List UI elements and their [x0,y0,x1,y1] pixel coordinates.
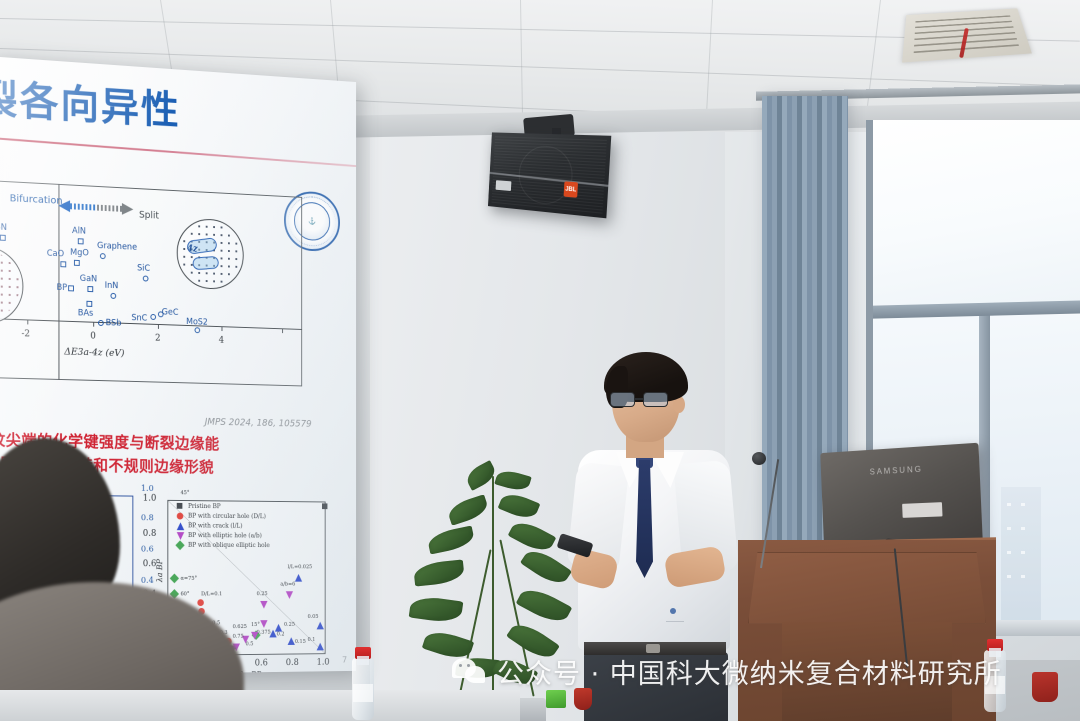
datapoint-label: 0.05 [308,614,319,620]
datapoint-label: InN [105,281,119,291]
datapoint-label: SnC [131,313,147,323]
annotation-split: Split [139,210,159,222]
datapoint-label: l/L=0.025 [288,564,313,570]
datapoint-label: Graphene [97,241,137,253]
datapoint-label: 0.75 [233,634,244,640]
br-ytick: 1.0 [143,494,157,504]
slide-title-rule [0,136,356,167]
top-chart-xtick: 0 [90,331,96,341]
slide-title: 裂各向异性 [0,65,181,135]
datapoint-label: GaN [80,274,97,285]
watermark-text: 公众号 · 中国科大微纳米复合材料研究所 [497,652,1002,691]
top-chart-xtick: 4 [219,336,224,346]
datapoint-label: 45° [181,490,190,496]
datapoint-label: 0.625 [233,624,247,630]
datapoint-label: CaO [47,249,64,260]
br-ytick: 0.6 [143,559,157,569]
datapoint-label: 0.2 [277,632,285,638]
arrow-right-icon [122,203,133,215]
top-chart-xtick: 2 [155,334,160,344]
wechat-icon [452,658,488,686]
shirt-pocket [666,602,684,622]
eyeglasses-icon [610,392,672,408]
br-xtick: 0.6 [255,659,268,669]
datapoint-label: D/L=0.1 [201,591,222,597]
arrow-left-icon [58,200,70,212]
window-glass-upper [873,120,1080,305]
datapoint-label: BSb [106,318,122,328]
wall-speaker: JBL [488,132,611,218]
datapoint-label: AlN [72,226,86,237]
water-bottle [352,658,374,720]
top-chart-xlabel: ΔE3a-4z (eV) [64,346,124,359]
datapoint-label: BP [57,283,68,293]
datapoint-label: BAs [78,308,93,318]
monitor-sticker [902,502,942,518]
top-scatter-chart: -4 -2 0 2 4 ΔE3a-4z (eV) Bifurcation Spl… [0,167,320,423]
datapoint-label: α=75° [181,576,198,582]
legend-item-label: Pristine BP [188,503,221,510]
legend-item-label: BP with circular hole (D/L) [188,513,266,520]
green-object [546,690,566,708]
legend-item-label: BP with elliptic hole (a/b) [188,532,262,539]
monitor-brand: SAMSUNG [870,465,923,477]
presentation-photo-scene: 裂各向异性 ⚓ -4 -2 0 2 4 [0,0,1080,721]
legend-item-label: BP with oblique elliptic hole [188,542,270,549]
legend-item-label: BP with crack (l/L) [188,522,242,529]
top-chart-xtick: -2 [21,329,30,339]
datapoint-label: GeC [162,308,179,318]
datapoint-label: 15° [251,622,260,628]
blob-label-4z: 4z [187,244,198,254]
br-ylabel: λa BP [155,559,163,582]
datapoint-label: a/b=6 [280,582,295,588]
front-table [0,690,520,721]
jbl-logo: JBL [564,181,578,197]
br-xtick: 0.8 [286,658,299,668]
datapoint-label: 60° [181,591,190,597]
necktie [636,460,653,578]
datapoint-label: BN [0,222,7,233]
datapoint-label: 0.15 [295,639,306,645]
citation-top: JMPS 2024, 186, 105579 [205,417,312,430]
br-ytick: 0.8 [143,529,157,539]
datapoint-label: 0.1 [308,637,316,643]
slide-page-number: 7 [342,656,347,666]
watermark: 公众号 · 中国科大微纳米复合材料研究所 [452,652,1002,691]
paper-cup [1032,672,1058,702]
br-xtick: 1.0 [317,658,330,668]
datapoint-label: MoS2 [186,317,208,327]
datapoint-label: SiC [137,264,150,274]
datapoint-label: 0.25 [257,591,268,597]
datapoint-label: 0.25 [284,622,295,628]
datapoint-label: MgO [70,248,89,259]
paper-cup [574,688,592,710]
